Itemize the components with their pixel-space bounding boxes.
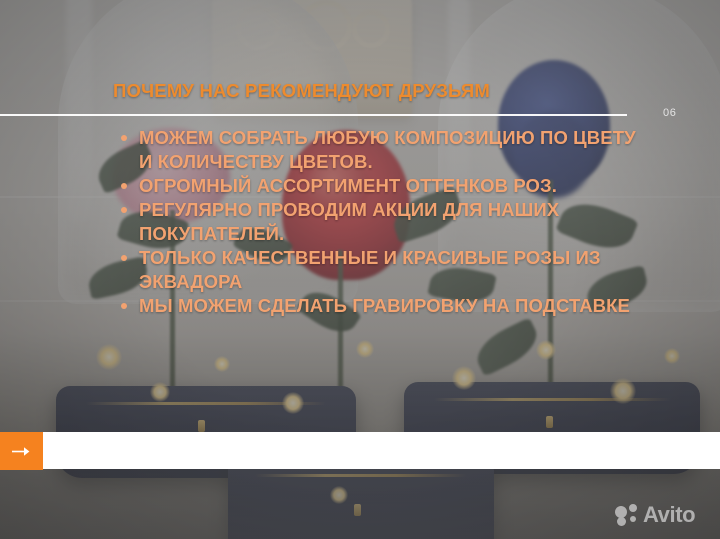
list-item: МОЖЕМ СОБРАТЬ ЛЮБУЮ КОМПОЗИЦИЮ ПО ЦВЕТУ … [116, 126, 644, 174]
arrow-right-icon [12, 446, 31, 457]
list-item: МЫ МОЖЕМ СДЕЛАТЬ ГРАВИРОВКУ НА ПОДСТАВКЕ [116, 294, 644, 318]
avito-watermark: Avito [615, 500, 711, 530]
title-divider [0, 114, 627, 116]
bottom-bar [0, 432, 720, 469]
list-item: ОГРОМНЫЙ АССОРТИМЕНТ ОТТЕНКОВ РОЗ. [116, 174, 644, 198]
benefits-list: МОЖЕМ СОБРАТЬ ЛЮБУЮ КОМПОЗИЦИЮ ПО ЦВЕТУ … [116, 126, 644, 318]
avito-wordmark: Avito [643, 504, 695, 526]
avito-dots-icon [615, 504, 639, 526]
page-title: ПОЧЕМУ НАС РЕКОМЕНДУЮТ ДРУЗЬЯМ [113, 80, 490, 102]
slide-canvas: ПОЧЕМУ НАС РЕКОМЕНДУЮТ ДРУЗЬЯМ 06 МОЖЕМ … [0, 0, 720, 539]
list-item: РЕГУЛЯРНО ПРОВОДИМ АКЦИИ ДЛЯ НАШИХ ПОКУП… [116, 198, 644, 246]
next-slide-button[interactable] [0, 432, 43, 470]
list-item: ТОЛЬКО КАЧЕСТВЕННЫЕ И КРАСИВЫЕ РОЗЫ ИЗ Э… [116, 246, 644, 294]
slide-content: ПОЧЕМУ НАС РЕКОМЕНДУЮТ ДРУЗЬЯМ 06 МОЖЕМ … [0, 0, 720, 539]
page-number: 06 [663, 107, 676, 119]
